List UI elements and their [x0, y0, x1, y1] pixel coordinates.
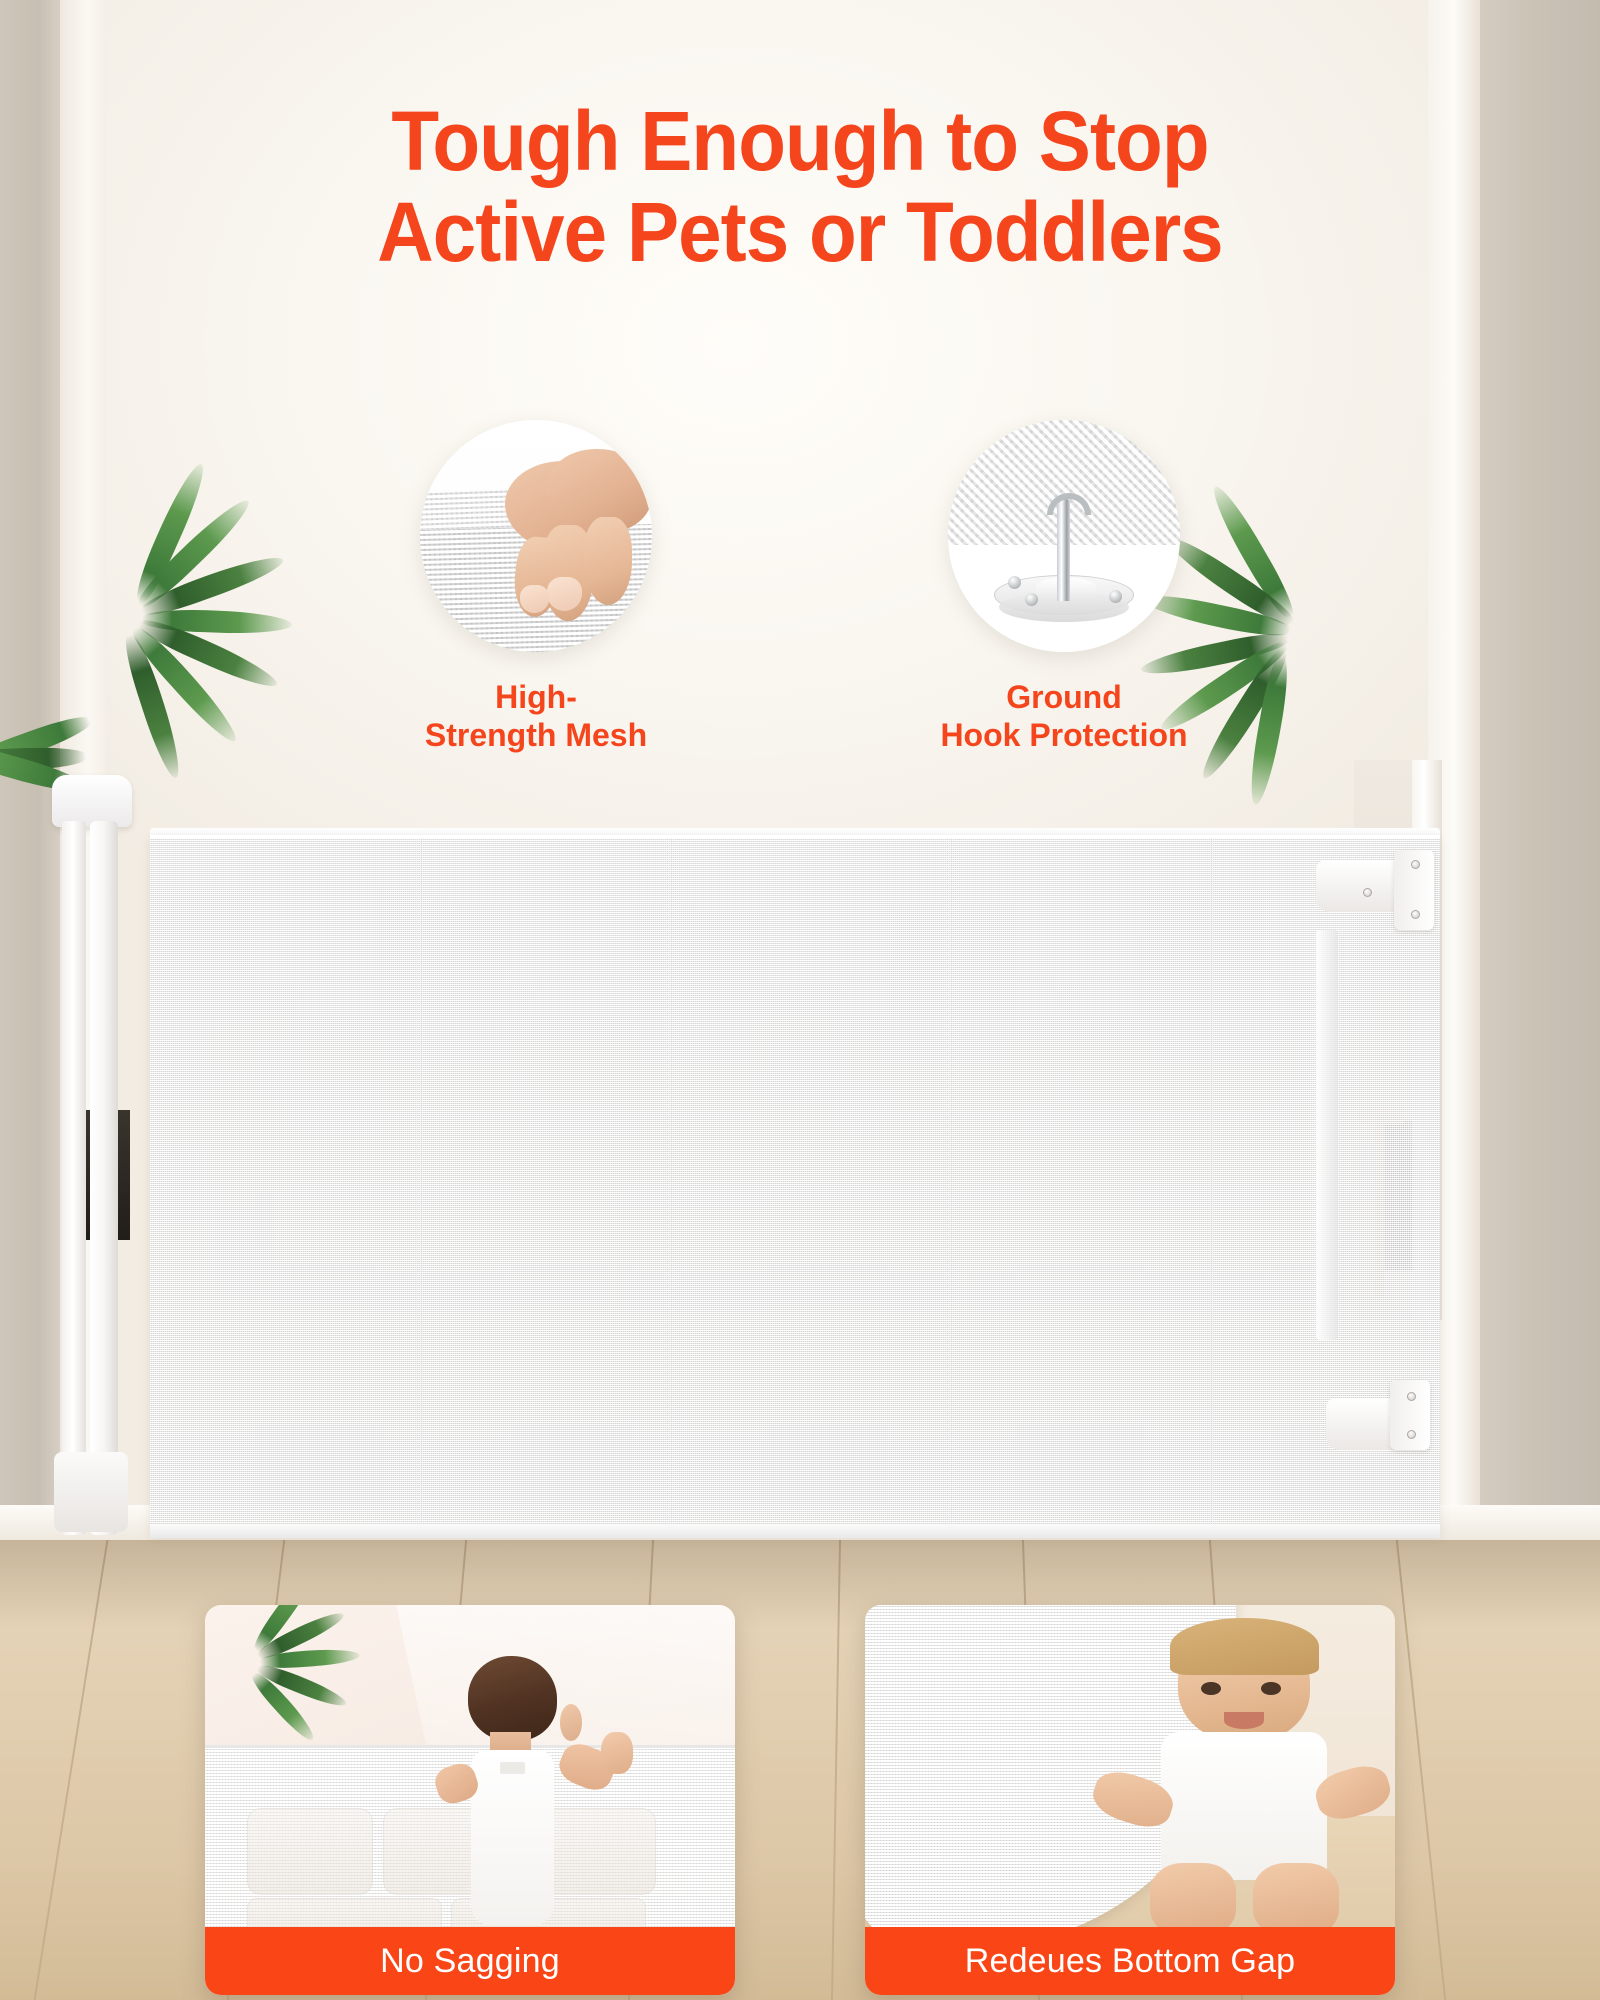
gate-post-foot — [54, 1452, 128, 1532]
card-no-sagging: No Sagging — [205, 1605, 735, 1995]
feature-label-hook: Ground Hook Protection — [940, 678, 1187, 755]
feature-label-mesh-line1: High- — [495, 679, 577, 715]
headline: Tough Enough to Stop Active Pets or Todd… — [0, 96, 1600, 277]
feature-label-hook-line2: Hook Protection — [940, 717, 1187, 753]
feature-ground-hook-protection: Ground Hook Protection — [929, 420, 1199, 755]
gate-bottom-rail — [150, 1524, 1440, 1538]
toddler-figure — [433, 1656, 592, 1960]
feature-label-mesh: High- Strength Mesh — [425, 678, 647, 755]
card-caption-reduces-bottom-gap: Redeues Bottom Gap — [865, 1927, 1395, 1995]
benefit-cards: No Sagging Redeues Bottom Gap — [0, 1605, 1600, 1995]
gate-retractor-post — [60, 775, 118, 1535]
mesh-pull-photo — [420, 420, 652, 652]
feature-label-hook-line1: Ground — [1006, 679, 1122, 715]
card-caption-no-sagging: No Sagging — [205, 1927, 735, 1995]
wall-bracket-bottom — [1320, 1380, 1430, 1460]
card-reduces-bottom-gap: Redeues Bottom Gap — [865, 1605, 1395, 1995]
card-plant — [216, 1628, 375, 1737]
feature-highlights: High- Strength Mesh Ground Hook Protecti… — [0, 420, 1600, 755]
feature-label-mesh-line2: Strength Mesh — [425, 717, 647, 753]
hook-icon — [1057, 499, 1070, 601]
wall-bracket-top — [1316, 850, 1434, 930]
headline-line-1: Tough Enough to Stop — [56, 96, 1544, 187]
hand-icon — [494, 457, 652, 652]
ground-hook-photo — [948, 420, 1180, 652]
crawling-baby-figure — [1098, 1628, 1384, 1963]
headline-line-2: Active Pets or Toddlers — [56, 187, 1544, 278]
feature-high-strength-mesh: High- Strength Mesh — [401, 420, 671, 755]
gate-mesh-panel — [150, 835, 1440, 1535]
gate-latch-strip — [1316, 930, 1338, 1340]
